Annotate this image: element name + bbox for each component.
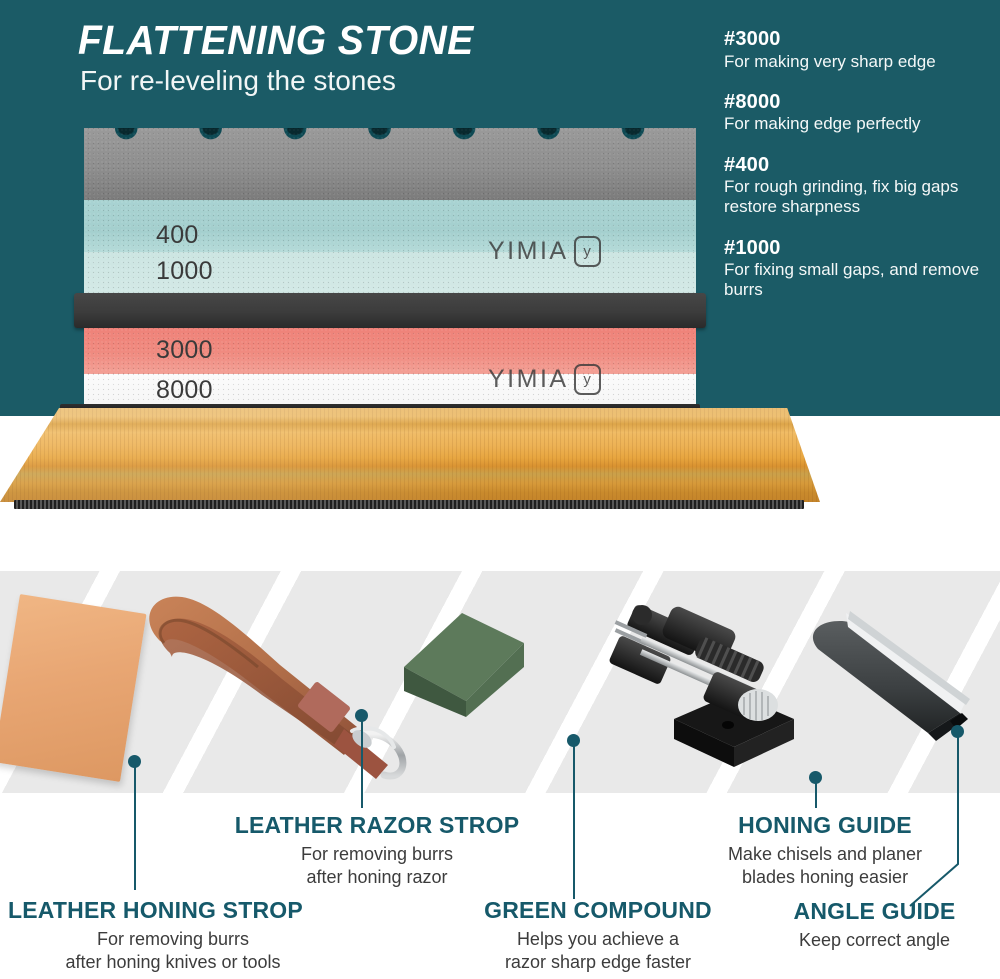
caption-leather-honing-strop: LEATHER HONING STROP For removing burrs …: [8, 897, 338, 973]
caption-line: Helps you achieve a: [463, 928, 733, 951]
brand-badge-icon: y: [574, 364, 601, 395]
flattening-stone-layer: [84, 128, 696, 200]
grit-spec-item: #8000 For making edge perfectly: [724, 91, 986, 135]
grit-description: For rough grinding, fix big gaps restore…: [724, 177, 986, 217]
caption-line: after honing razor: [222, 866, 532, 889]
marker-dot-green-compound: [567, 734, 580, 747]
grit-description: For making edge perfectly: [724, 114, 986, 134]
brand-badge-icon: y: [574, 236, 601, 267]
leader-line-leather-razor-strop: [361, 716, 363, 808]
page-subtitle: For re-leveling the stones: [80, 66, 396, 97]
infographic-page: FLATTENING STONE For re-leveling the sto…: [0, 0, 1000, 979]
caption-green-compound: GREEN COMPOUND Helps you achieve a razor…: [463, 897, 733, 973]
caption-line: after honing knives or tools: [8, 951, 338, 974]
stone-grit-label-8000: 8000: [156, 376, 213, 405]
accessories-panel: [0, 571, 1000, 793]
grit-code: #400: [724, 154, 986, 178]
leader-line-angle-guide: [880, 728, 980, 913]
marker-dot-honing-guide: [809, 771, 822, 784]
grit-spec-item: #3000 For making very sharp edge: [724, 28, 986, 72]
brand-wordmark: YIMIA: [488, 365, 569, 394]
grit-spec-item: #400 For rough grinding, fix big gaps re…: [724, 154, 986, 218]
brand-logo: YIMIA y: [488, 364, 601, 395]
page-title: FLATTENING STONE: [78, 20, 474, 61]
caption-line: razor sharp edge faster: [463, 951, 733, 974]
caption-line: For removing burrs: [222, 843, 532, 866]
stone-grit-label-400: 400: [156, 221, 199, 250]
caption-title: GREEN COMPOUND: [463, 897, 733, 923]
grit-description: For making very sharp edge: [724, 52, 986, 72]
marker-dot-angle-guide: [951, 725, 964, 738]
bamboo-base: [0, 408, 820, 518]
caption-line: Keep correct angle: [752, 929, 997, 952]
grit-spec-list: #3000 For making very sharp edge #8000 F…: [724, 28, 986, 320]
caption-title: LEATHER HONING STROP: [8, 897, 338, 923]
leader-line-green-compound: [573, 741, 575, 899]
hero-section: FLATTENING STONE For re-leveling the sto…: [0, 0, 1000, 416]
brand-logo: YIMIA y: [488, 236, 601, 267]
caption-description: Keep correct angle: [752, 929, 997, 952]
grit-code: #8000: [724, 91, 986, 115]
green-compound-image: [400, 609, 528, 717]
caption-leather-razor-strop: LEATHER RAZOR STROP For removing burrs a…: [222, 812, 532, 888]
caption-description: Helps you achieve a razor sharp edge fas…: [463, 928, 733, 973]
brand-wordmark: YIMIA: [488, 237, 569, 266]
leather-honing-strop-image: [0, 594, 147, 782]
caption-description: For removing burrs after honing razor: [222, 843, 532, 888]
caption-line: For removing burrs: [8, 928, 338, 951]
bamboo-board: [0, 408, 820, 502]
marker-dot-leather-razor-strop: [355, 709, 368, 722]
caption-description: For removing burrs after honing knives o…: [8, 928, 338, 973]
leather-razor-strop-image: [130, 579, 440, 784]
stone-grit-label-1000: 1000: [156, 257, 213, 286]
stone-groove-shadows: [84, 128, 696, 144]
leader-line-leather-honing-strop: [134, 762, 136, 890]
caption-title: LEATHER RAZOR STROP: [222, 812, 532, 838]
rubber-stone-holder-bar: [74, 293, 706, 328]
marker-dot-leather-honing-strop: [128, 755, 141, 768]
grit-code: #3000: [724, 28, 986, 52]
grit-description: For fixing small gaps, and remove burrs: [724, 260, 986, 300]
grit-spec-item: #1000 For fixing small gaps, and remove …: [724, 237, 986, 301]
rubber-grip-strip: [14, 500, 804, 509]
grit-code: #1000: [724, 237, 986, 261]
stone-grain-texture: [84, 128, 696, 200]
honing-guide-image: [598, 593, 818, 773]
stone-stack-illustration: 400 1000 3000 8000 YIMIA y YIMIA y: [84, 128, 696, 416]
stone-grit-label-3000: 3000: [156, 336, 213, 365]
